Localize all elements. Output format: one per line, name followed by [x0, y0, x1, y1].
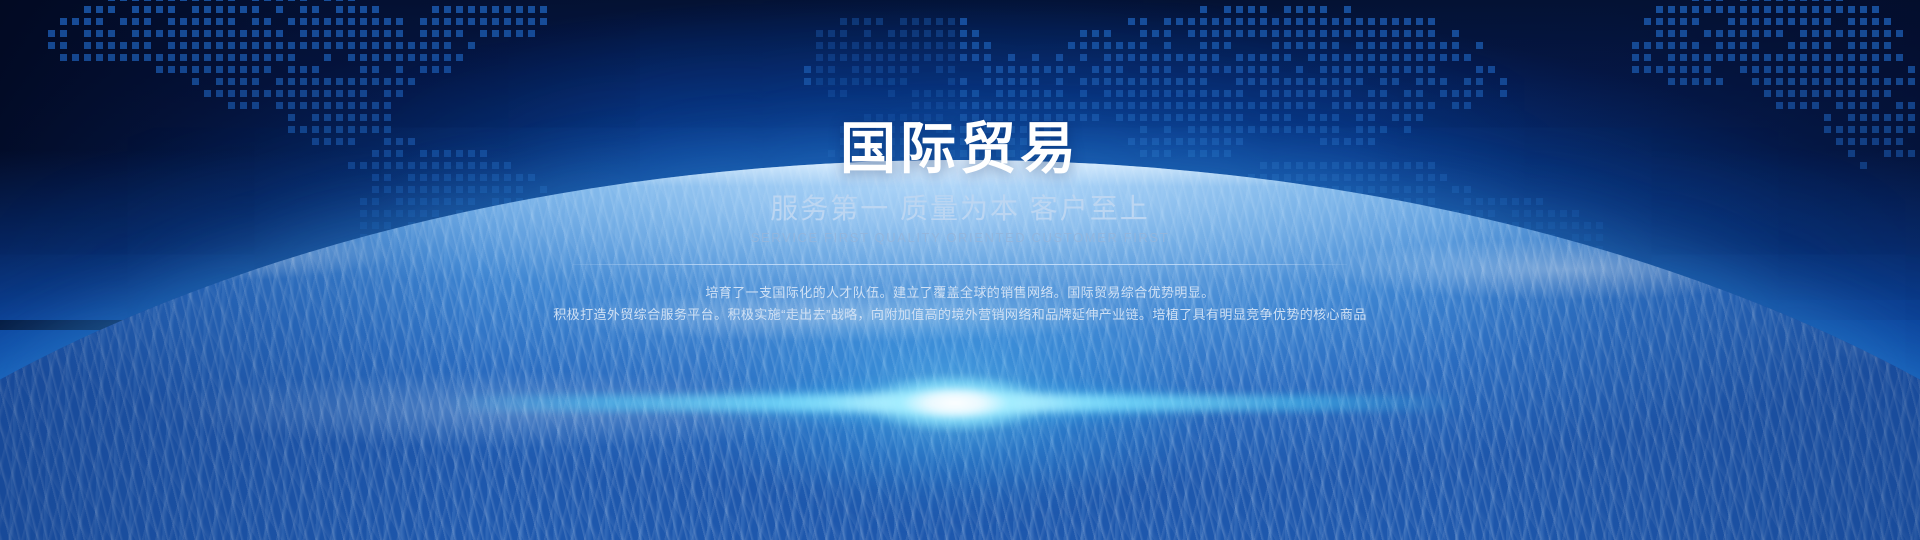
banner-title: 国际贸易: [840, 118, 1080, 181]
banner-subtitle-chinese: 服务第一 质量为本 客户至上: [770, 191, 1150, 226]
description-line-1: 培育了一支国际化的人才队伍。建立了覆盖全球的销售网络。国际贸易综合优势明显。: [553, 282, 1366, 304]
banner-content: 国际贸易 服务第一 质量为本 客户至上 SERVICE FIRST QUALIT…: [0, 0, 1920, 540]
banner-subtitle-english: SERVICE FIRST QUALITY ORIENTED CUSTOMER …: [751, 230, 1169, 247]
banner-description: 培育了一支国际化的人才队伍。建立了覆盖全球的销售网络。国际贸易综合优势明显。 积…: [553, 282, 1366, 326]
international-trade-banner: 国际贸易 服务第一 质量为本 客户至上 SERVICE FIRST QUALIT…: [0, 0, 1920, 540]
description-line-2: 积极打造外贸综合服务平台。积极实施“走出去”战略，向附加值高的境外营销网络和品牌…: [553, 304, 1366, 326]
banner-divider: [573, 264, 1347, 265]
